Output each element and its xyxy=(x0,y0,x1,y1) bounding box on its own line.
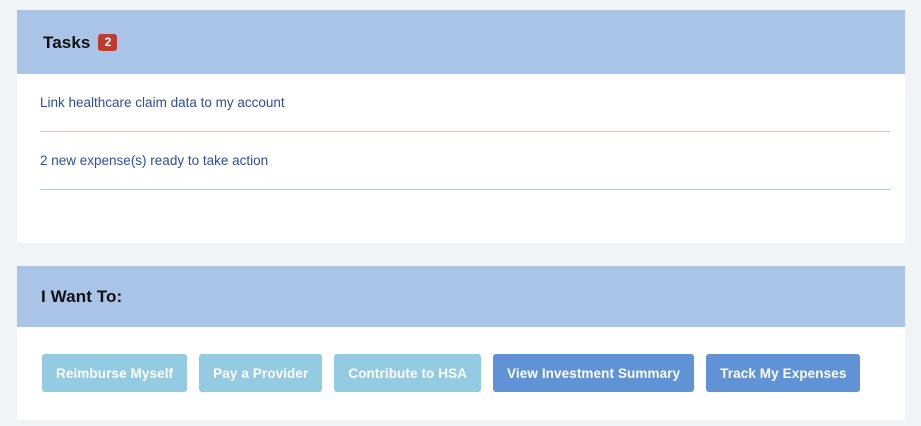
dashboard-page: Tasks 2 Link healthcare claim data to my… xyxy=(0,0,921,426)
task-link-new-expenses-ready[interactable]: 2 new expense(s) ready to take action xyxy=(40,153,268,168)
pay-a-provider-button[interactable]: Pay a Provider xyxy=(199,354,322,392)
card-spacer xyxy=(17,243,905,266)
track-my-expenses-button[interactable]: Track My Expenses xyxy=(706,354,860,392)
task-row[interactable]: 2 new expense(s) ready to take action xyxy=(40,132,890,190)
view-investment-summary-button[interactable]: View Investment Summary xyxy=(493,354,694,392)
tasks-list: Link healthcare claim data to my account… xyxy=(17,74,905,190)
tasks-card-header: Tasks 2 xyxy=(17,10,905,74)
task-link-link-healthcare-claim-data[interactable]: Link healthcare claim data to my account xyxy=(40,95,285,110)
i-want-to-card-title: I Want To: xyxy=(41,288,122,305)
i-want-to-card: I Want To: Reimburse Myself Pay a Provid… xyxy=(17,266,905,420)
contribute-to-hsa-button[interactable]: Contribute to HSA xyxy=(334,354,481,392)
quick-actions-row: Reimburse Myself Pay a Provider Contribu… xyxy=(17,327,905,392)
tasks-count-badge: 2 xyxy=(98,34,117,51)
reimburse-myself-button[interactable]: Reimburse Myself xyxy=(42,354,187,392)
tasks-card-title: Tasks xyxy=(43,34,90,51)
task-row[interactable]: Link healthcare claim data to my account xyxy=(40,74,890,132)
tasks-card: Tasks 2 Link healthcare claim data to my… xyxy=(17,10,905,243)
i-want-to-card-header: I Want To: xyxy=(17,266,905,327)
